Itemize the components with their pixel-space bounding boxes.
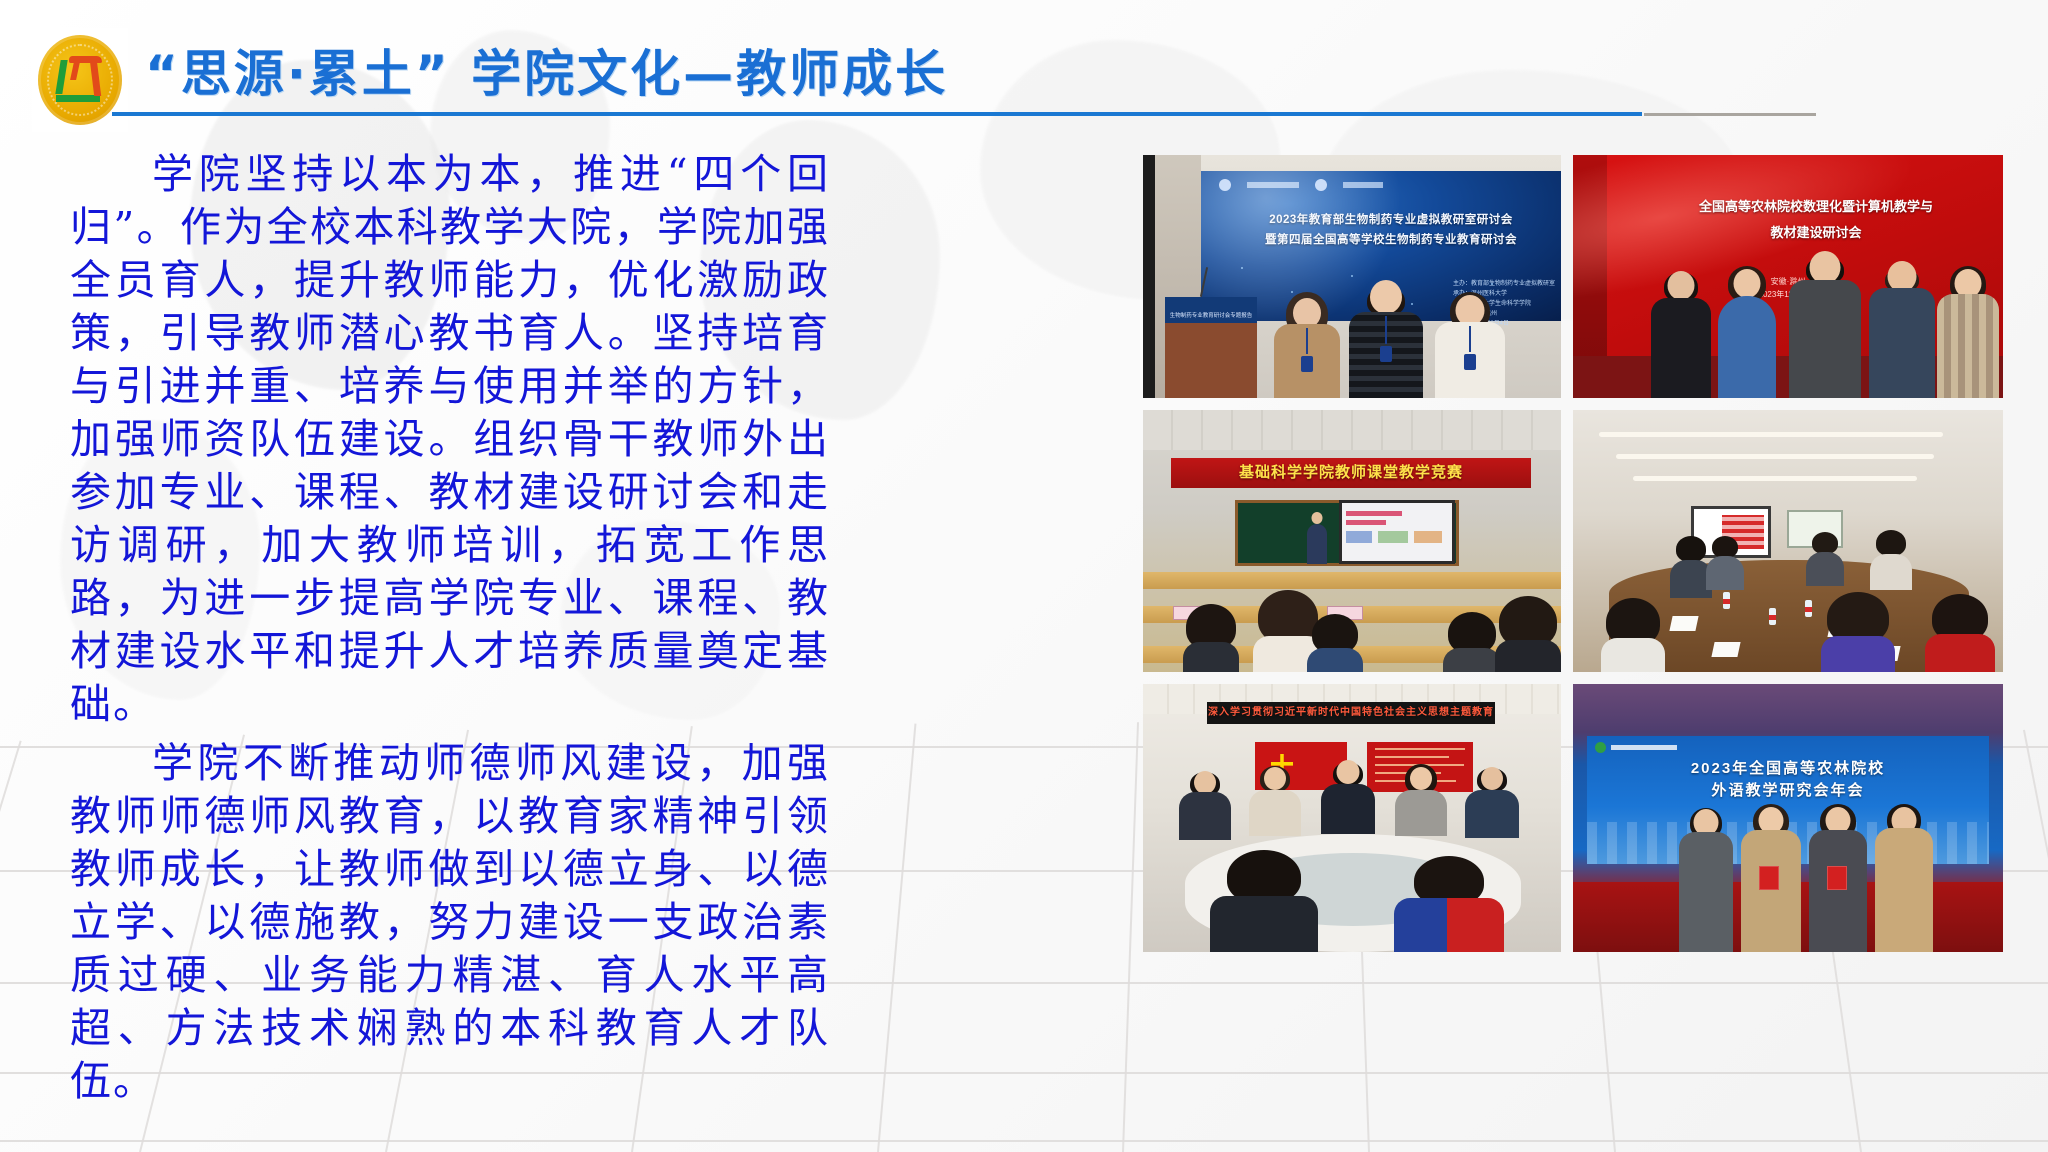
photo2-banner-2: 教材建设研讨会 [1573, 225, 2003, 241]
photo5-attendee-3 [1319, 756, 1377, 834]
photo2-person-5 [1935, 270, 2001, 398]
photo6-screen-title-1: 2023年全国高等农林院校 [1573, 760, 2003, 778]
photo3-audience-1 [1183, 602, 1239, 672]
photo5-attendee-2 [1247, 762, 1303, 836]
photo1-person-2 [1347, 278, 1425, 398]
photo4-attendee-3 [1705, 532, 1745, 590]
photo5-attendee-5 [1463, 762, 1521, 838]
body-copy: 学院坚持以本为本，推进“四个回归”。作为全校本科教学大院，学院加强全员育人，提升… [70, 148, 830, 1114]
photo2-person-4 [1867, 266, 1937, 398]
photo-biopharma-seminar[interactable]: 2023年教育部生物制药专业虚拟教研室研讨会 暨第四届全国高等学校生物制药专业教… [1143, 155, 1561, 398]
photo2-person-2 [1715, 268, 1779, 398]
photo6-awardee-3 [1807, 802, 1869, 952]
photo5-attendee-1 [1177, 766, 1233, 840]
page-title: “思源·累土” 学院文化—教师成长 [145, 34, 948, 106]
photo1-person-3 [1433, 286, 1507, 398]
photo3-presenter [1305, 508, 1329, 564]
photo6-awardee-1 [1677, 806, 1735, 952]
slide-header: “思源·累土” 学院文化—教师成长 [0, 0, 2048, 140]
photo-party-meeting[interactable]: 深入学习贯彻习近平新时代中国特色社会主义思想主题教育 [1143, 684, 1561, 952]
photo1-person-1 [1271, 286, 1343, 398]
photo5-foreground-2 [1393, 852, 1505, 952]
photo1-screen-title-1: 2023年教育部生物制药专业虚拟教研室研讨会 [1201, 213, 1561, 227]
photo6-screen-title-2: 外语教学研究会年会 [1573, 782, 2003, 800]
photo5-attendee-4 [1393, 762, 1449, 836]
photo-award-ceremony[interactable]: 2023年全国高等农林院校 外语教学研究会年会 [1573, 684, 2003, 952]
photo3-audience-3 [1307, 616, 1363, 672]
photo1-podium-text: 生物制药专业教育研讨会专题报告 [1165, 311, 1257, 319]
photo-teaching-competition[interactable]: 基础科学学院教师课堂教学竞赛 [1143, 410, 1561, 672]
paragraph-1: 学院坚持以本为本，推进“四个回归”。作为全校本科教学大院，学院加强全员育人，提升… [70, 148, 830, 731]
photo5-foreground-1 [1209, 848, 1319, 952]
photo3-banner-text: 基础科学学院教师课堂教学竞赛 [1171, 458, 1531, 488]
photo-gallery: 2023年教育部生物制药专业虚拟教研室研讨会 暨第四届全国高等学校生物制药专业教… [1143, 155, 2003, 1125]
header-rule-grey [1644, 113, 1816, 116]
header-rule-blue [112, 112, 1642, 116]
college-emblem-icon [32, 28, 128, 132]
slide-canvas: “思源·累土” 学院文化—教师成长 学院坚持以本为本，推进“四个回归”。作为全校… [0, 0, 2048, 1152]
photo-agroforestry-seminar[interactable]: 全国高等农林院校数理化暨计算机教学与 教材建设研讨会 安徽·滁州 2023年11… [1573, 155, 2003, 398]
photo4-attendee-4 [1805, 528, 1845, 586]
photo5-banner-text: 深入学习贯彻习近平新时代中国特色社会主义思想主题教育 [1207, 702, 1495, 724]
photo1-screen-title-2: 暨第四届全国高等学校生物制药专业教育研讨会 [1201, 233, 1561, 247]
photo4-attendee-5 [1869, 528, 1913, 590]
photo2-person-3 [1787, 256, 1863, 398]
photo3-audience-5 [1495, 592, 1561, 672]
paragraph-2: 学院不断推动师德师风建设，加强教师师德师风教育，以教育家精神引领教师成长，让教师… [70, 737, 830, 1108]
photo3-audience-4 [1443, 614, 1501, 672]
photo4-attendee-1 [1601, 588, 1665, 672]
photo-roundtable-discussion[interactable] [1573, 410, 2003, 672]
photo2-person-1 [1649, 272, 1713, 398]
photo2-banner-1: 全国高等农林院校数理化暨计算机教学与 [1573, 199, 2003, 215]
photo4-attendee-6 [1821, 586, 1895, 672]
photo6-awardee-2 [1739, 802, 1803, 952]
photo4-attendee-7 [1925, 584, 1995, 672]
photo6-awardee-4 [1873, 802, 1935, 952]
